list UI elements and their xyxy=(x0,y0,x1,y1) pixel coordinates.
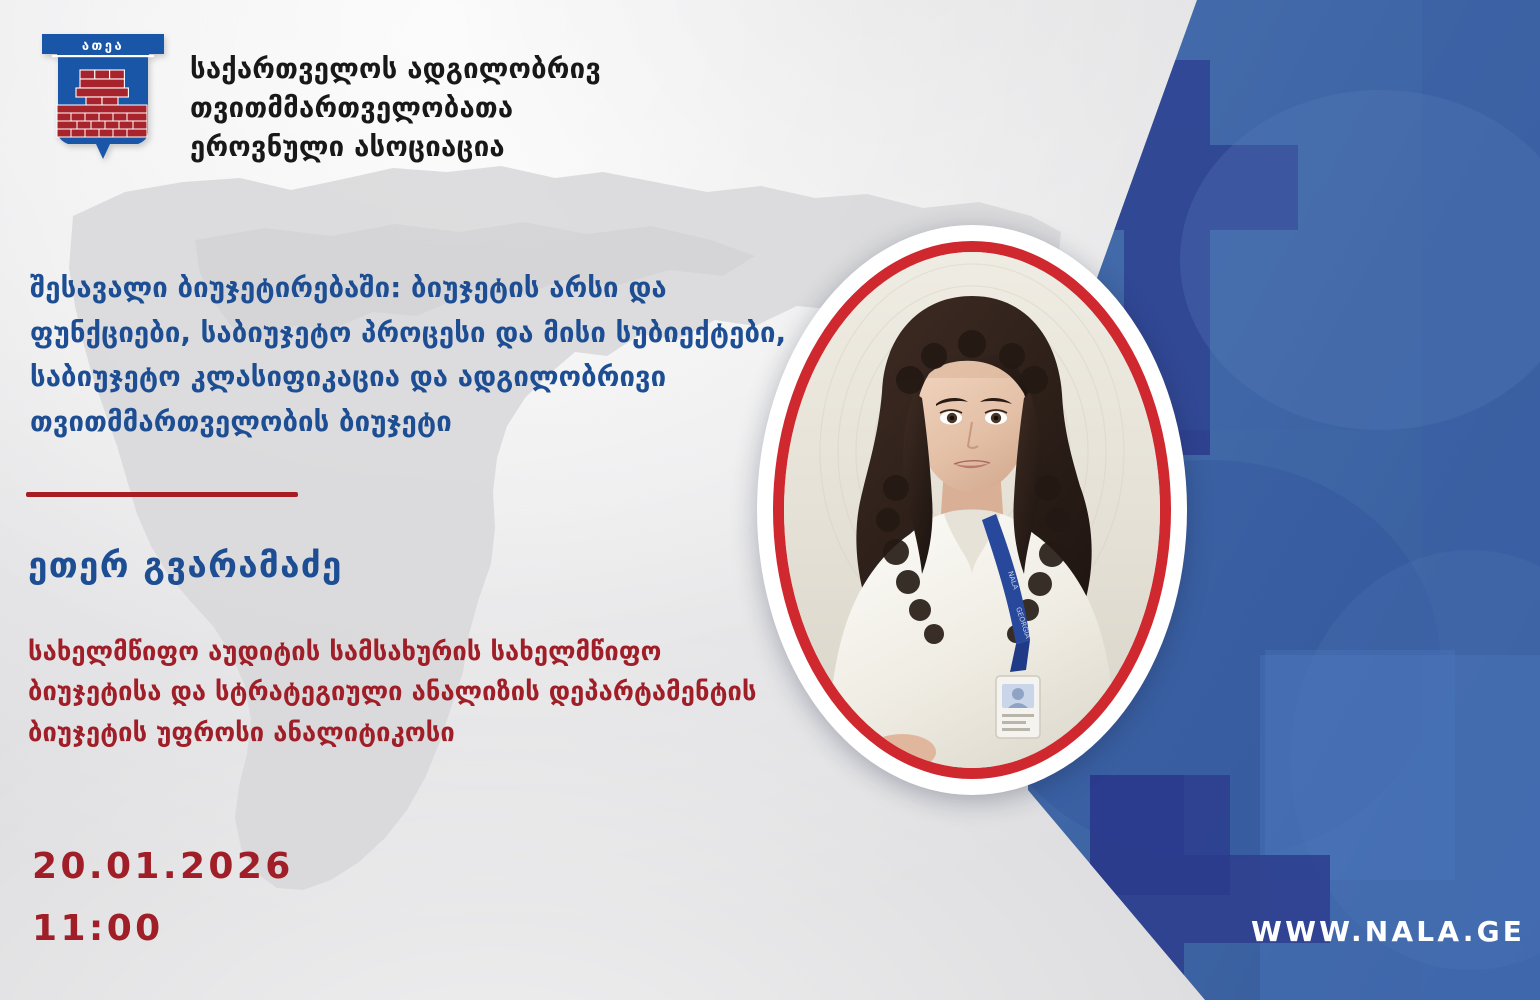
event-announcement-poster: ათეა xyxy=(0,0,1540,1000)
event-date: 20.01.2026 xyxy=(32,846,294,887)
portrait-photo: NALA GEORGIA xyxy=(784,252,1160,768)
speaker-portrait: NALA GEORGIA xyxy=(757,225,1187,795)
page-title: შესავალი ბიუჯეტირებაში: ბიუჯეტის არსი და… xyxy=(30,266,790,444)
header: ათეა xyxy=(38,28,660,173)
portrait-illustration: NALA GEORGIA xyxy=(784,252,1160,768)
nala-shield-logo: ათეა xyxy=(38,28,168,173)
logo-motto-text: ათეა xyxy=(82,39,124,54)
organization-name: საქართველოს ადგილობრივ თვითმმართველობათა… xyxy=(190,50,660,167)
website-url[interactable]: WWW.NALA.GE xyxy=(1251,915,1525,948)
event-time: 11:00 xyxy=(32,908,164,949)
speaker-role: სახელმწიფო აუდიტის სამსახურის სახელმწიფო… xyxy=(28,632,788,753)
speaker-name: ეთერ გვარამაძე xyxy=(28,546,343,586)
red-divider-rule xyxy=(26,492,298,497)
